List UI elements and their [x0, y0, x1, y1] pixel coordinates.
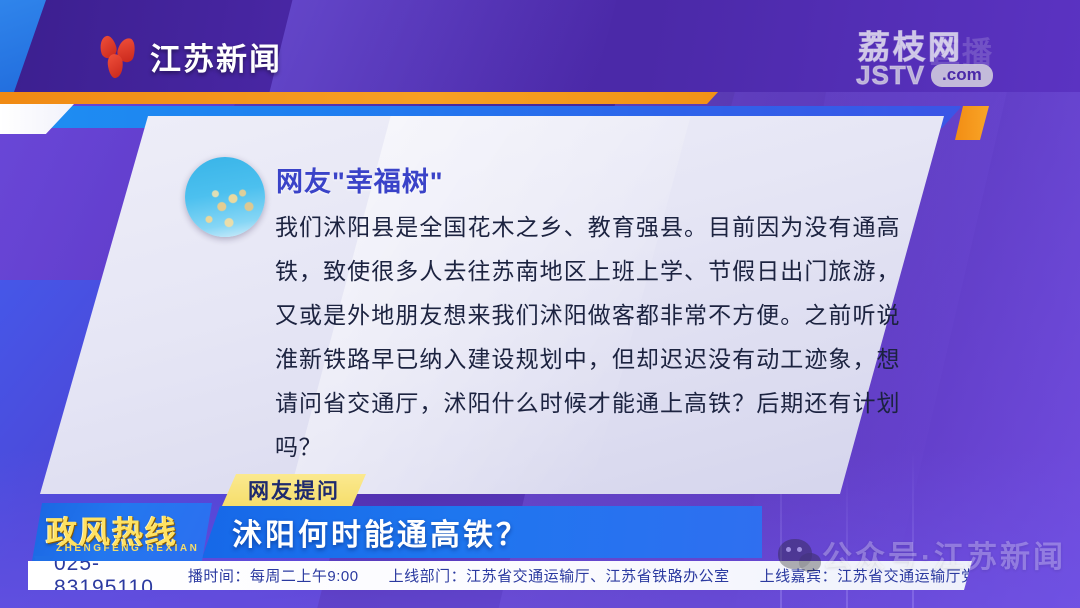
info-bar: 025-83195110 播时间：每周二上午9:00 上线部门：江苏省交通运输厅… — [28, 561, 972, 590]
channel-logo: 江苏新闻 — [98, 34, 282, 79]
channel-logo-label: 江苏新闻 — [150, 34, 282, 79]
program-logo-en: ZHENGFENG REXIAN — [56, 543, 199, 554]
network-logo-domain: .com — [931, 64, 993, 87]
network-logo-en: JSTV — [856, 60, 925, 91]
question-author: 网友"幸福树" — [276, 160, 444, 199]
airtime-label: 播时间：每周二上午9:00 — [188, 565, 359, 586]
question-body: 我们沭阳县是全国花木之乡、教育强县。目前因为没有通高铁，致使很多人去往苏南地区上… — [275, 205, 900, 469]
department-label: 上线部门：江苏省交通运输厅、江苏省铁路办公室 — [389, 565, 730, 586]
status-badge: 网友提问 — [222, 474, 366, 506]
program-logo: 政风热线 ZHENGFENG REXIAN — [32, 503, 212, 561]
network-logo: 直播 荔枝网 JSTV .com — [844, 22, 1062, 88]
header-streak — [269, 0, 616, 92]
avatar — [185, 157, 265, 237]
headline-bar: 沭阳何时能通高铁？ — [202, 506, 762, 558]
broadcast-screen: 江苏新闻 直播 荔枝网 JSTV .com 网友"幸福树" 我们沭阳县是全国花木… — [0, 0, 1080, 608]
header-orange-stripe — [0, 92, 718, 104]
page-title: 沭阳何时能通高铁？ — [232, 510, 529, 554]
flame-logo-icon — [98, 36, 138, 78]
